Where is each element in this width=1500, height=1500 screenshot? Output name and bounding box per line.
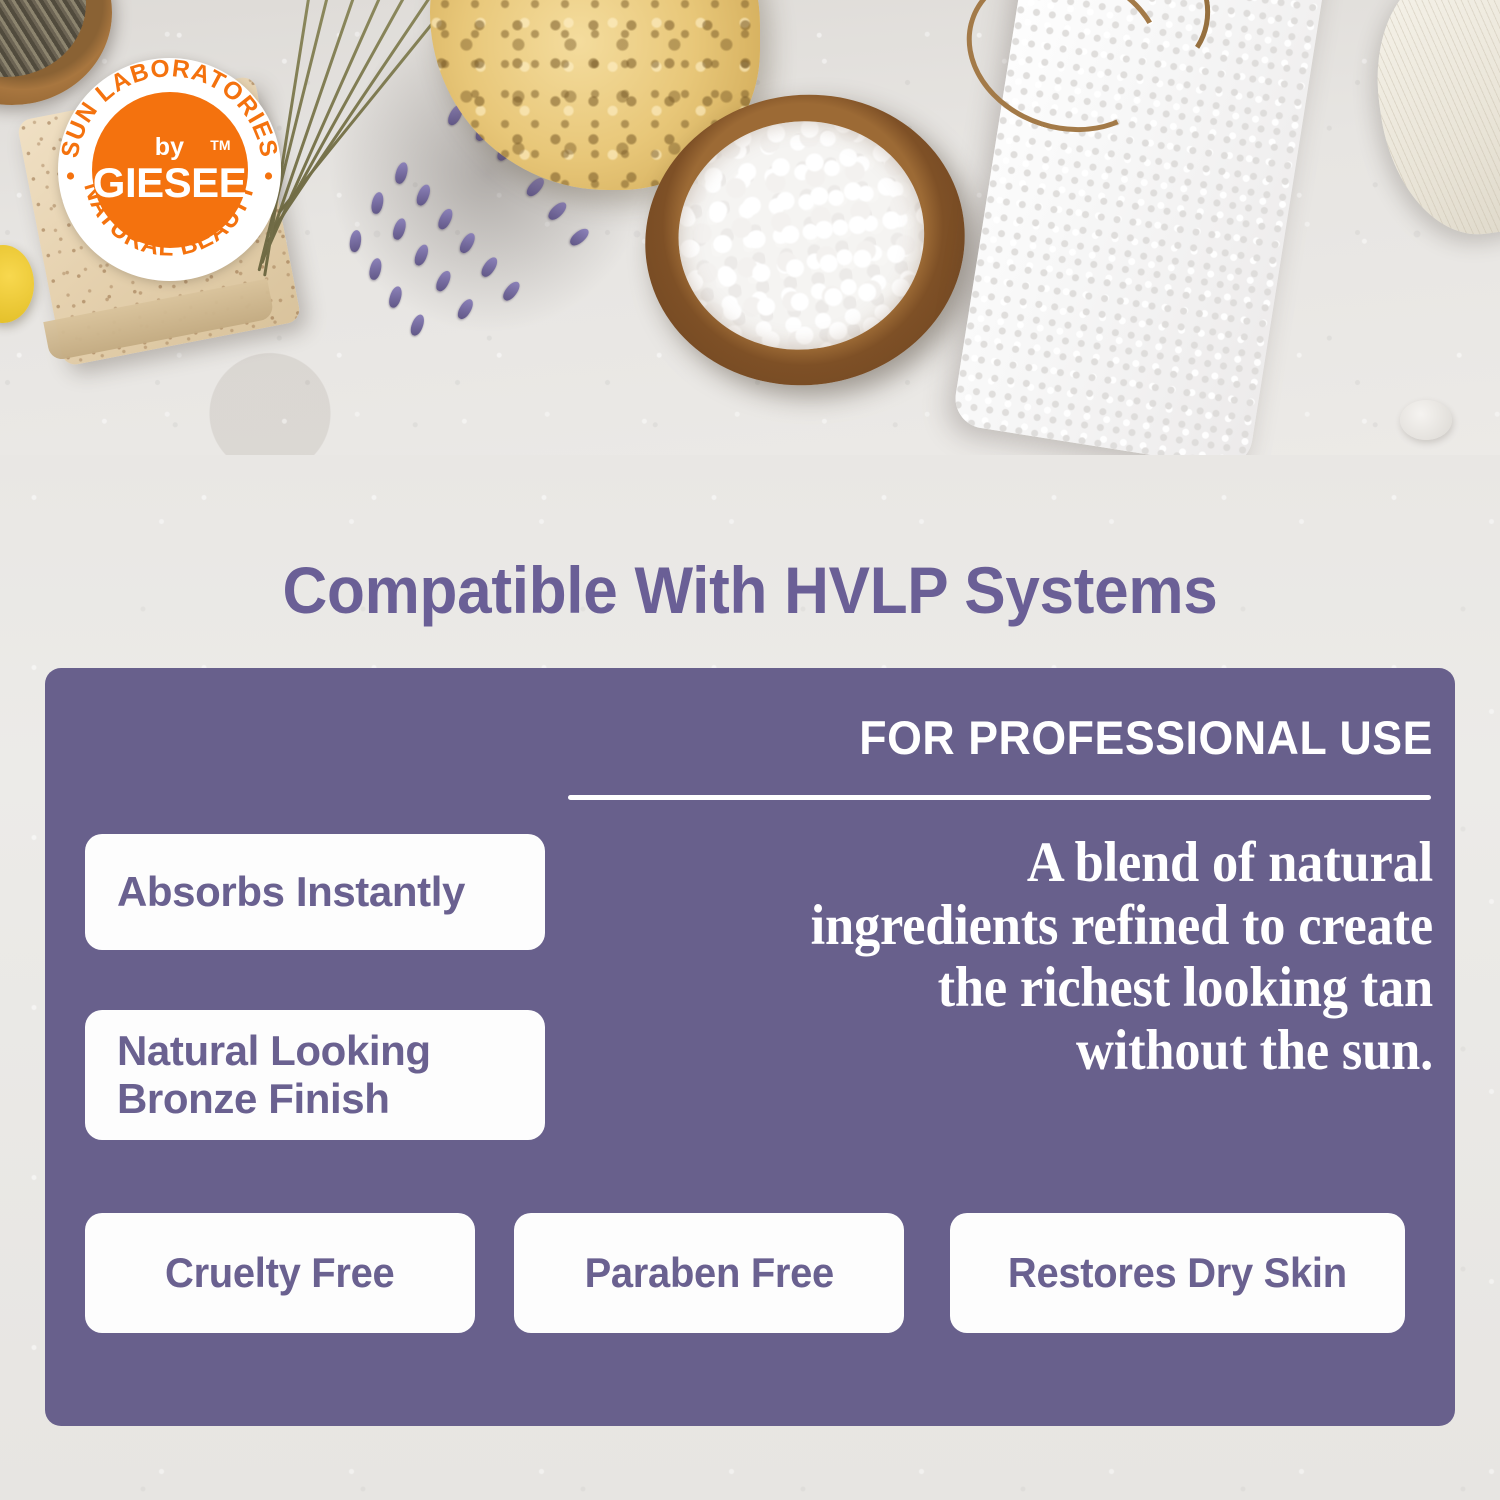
blurb-line: A blend of natural [637,832,1433,895]
logo-wordmark: GIESEE [93,162,246,204]
pebble-icon [1400,400,1452,440]
brand-logo: SUN LABORATORIES NATURAL BEAUTY by GIESE… [58,58,281,281]
logo-dot-left [67,172,74,179]
product-infographic: SUN LABORATORIES NATURAL BEAUTY by GIESE… [0,0,1500,1500]
feature-pill-cruelty-free[interactable]: Cruelty Free [85,1213,475,1333]
feature-pill-label: Absorbs Instantly [117,868,465,916]
feature-pill-label-line2: Bronze Finish [117,1075,431,1123]
logo-trademark-icon: TM [210,137,230,153]
feature-pill-label-line1: Natural Looking [117,1027,431,1075]
page-title: Compatible With HVLP Systems [45,552,1455,628]
features-panel: Absorbs Instantly Natural Looking Bronze… [45,668,1455,1426]
feature-pill-label: Restores Dry Skin [1008,1249,1347,1297]
feature-pill-label: Cruelty Free [165,1249,394,1297]
blurb-line: ingredients refined to create [637,895,1433,958]
feature-pill-restores-dry-skin[interactable]: Restores Dry Skin [950,1213,1405,1333]
panel-blurb: A blend of natural ingredients refined t… [637,832,1433,1083]
logo-dot-right [265,172,272,179]
feature-pill-paraben-free[interactable]: Paraben Free [514,1213,904,1333]
divider [568,795,1431,800]
feature-pill-absorbs-instantly[interactable]: Absorbs Instantly [85,834,545,950]
panel-subheading: FOR PROFESSIONAL USE [611,710,1433,765]
blurb-line: the richest looking tan [637,957,1433,1020]
logo-by-label: by [155,135,185,160]
blurb-line: without the sun. [637,1020,1433,1083]
logo-core: by GIESEE TM [92,92,248,248]
feature-pill-natural-looking-bronze-finish[interactable]: Natural Looking Bronze Finish [85,1010,545,1140]
panel-right-column: FOR PROFESSIONAL USE A blend of natural … [568,710,1433,1083]
feature-pill-label-block: Natural Looking Bronze Finish [117,1027,431,1123]
feature-pill-label: Paraben Free [584,1249,833,1297]
